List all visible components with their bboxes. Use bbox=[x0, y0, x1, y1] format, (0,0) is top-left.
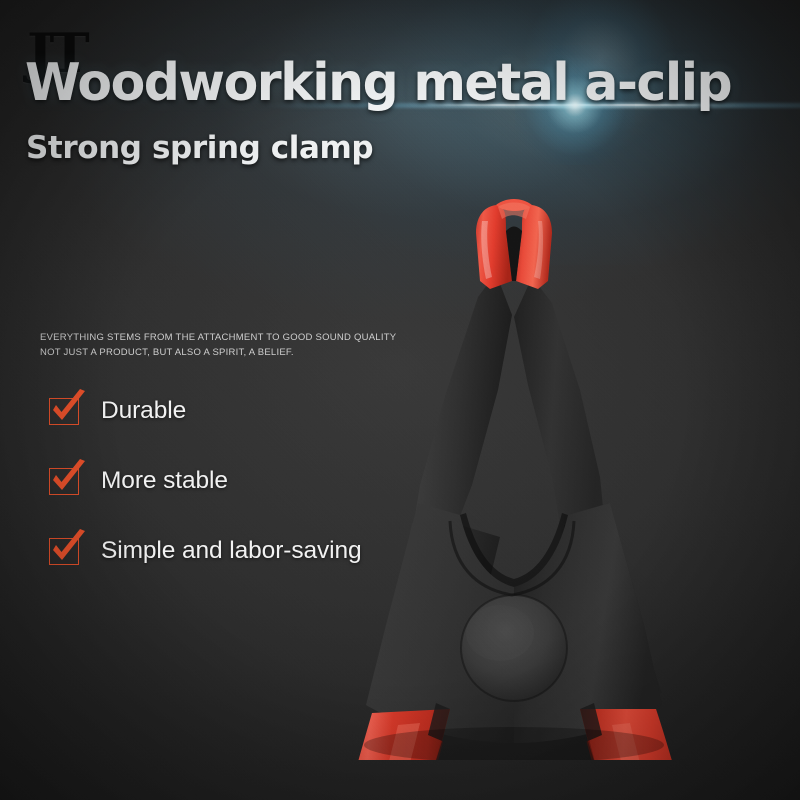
feature-list: Durable More stable Simple and labor-sav… bbox=[49, 398, 362, 565]
clamp-right-upper-arm bbox=[514, 277, 606, 537]
feature-label: More stable bbox=[101, 469, 228, 494]
feature-label: Durable bbox=[101, 399, 186, 424]
tagline-line-2: NOT JUST A PRODUCT, BUT ALSO A SPIRIT, A… bbox=[40, 345, 396, 360]
tagline-line-1: EVERYTHING STEMS FROM THE ATTACHMENT TO … bbox=[40, 330, 396, 345]
product-image bbox=[300, 185, 730, 760]
feature-item-more-stable: More stable bbox=[49, 468, 362, 495]
clamp-lower-body bbox=[366, 503, 662, 743]
clamp-center-notch bbox=[460, 513, 568, 587]
product-banner: JT Woodworking metal a-clip Strong sprin… bbox=[0, 0, 800, 800]
clamp-jaw-gap bbox=[506, 227, 522, 282]
page-title: Woodworking metal a-clip bbox=[25, 57, 731, 109]
checkmark-icon bbox=[49, 468, 79, 495]
clamp-right-body bbox=[564, 525, 662, 705]
clamp-handle-grip-right bbox=[580, 709, 700, 760]
page-subtitle: Strong spring clamp bbox=[26, 133, 373, 164]
feature-item-durable: Durable bbox=[49, 398, 362, 425]
clamp-handle-grip-left bbox=[330, 709, 450, 760]
feature-label: Simple and labor-saving bbox=[101, 539, 362, 564]
clamp-jaw-tip-bridge bbox=[496, 199, 532, 211]
grip-highlight-right bbox=[612, 723, 680, 760]
grip-highlight-left bbox=[350, 723, 420, 760]
clamp-left-upper-arm bbox=[412, 273, 512, 537]
clamp-jaw-tip-right bbox=[516, 205, 552, 289]
checkmark-icon bbox=[49, 398, 79, 425]
clamp-left-body bbox=[382, 523, 500, 700]
clamp-jaw-tip-left bbox=[476, 205, 512, 289]
feature-item-simple-and-labor-saving: Simple and labor-saving bbox=[49, 538, 362, 565]
checkmark-icon bbox=[49, 538, 79, 565]
tagline-text: EVERYTHING STEMS FROM THE ATTACHMENT TO … bbox=[40, 330, 396, 361]
clamp-lower-body-right-shade bbox=[514, 503, 662, 743]
clamp-pivot-hub bbox=[461, 595, 567, 701]
